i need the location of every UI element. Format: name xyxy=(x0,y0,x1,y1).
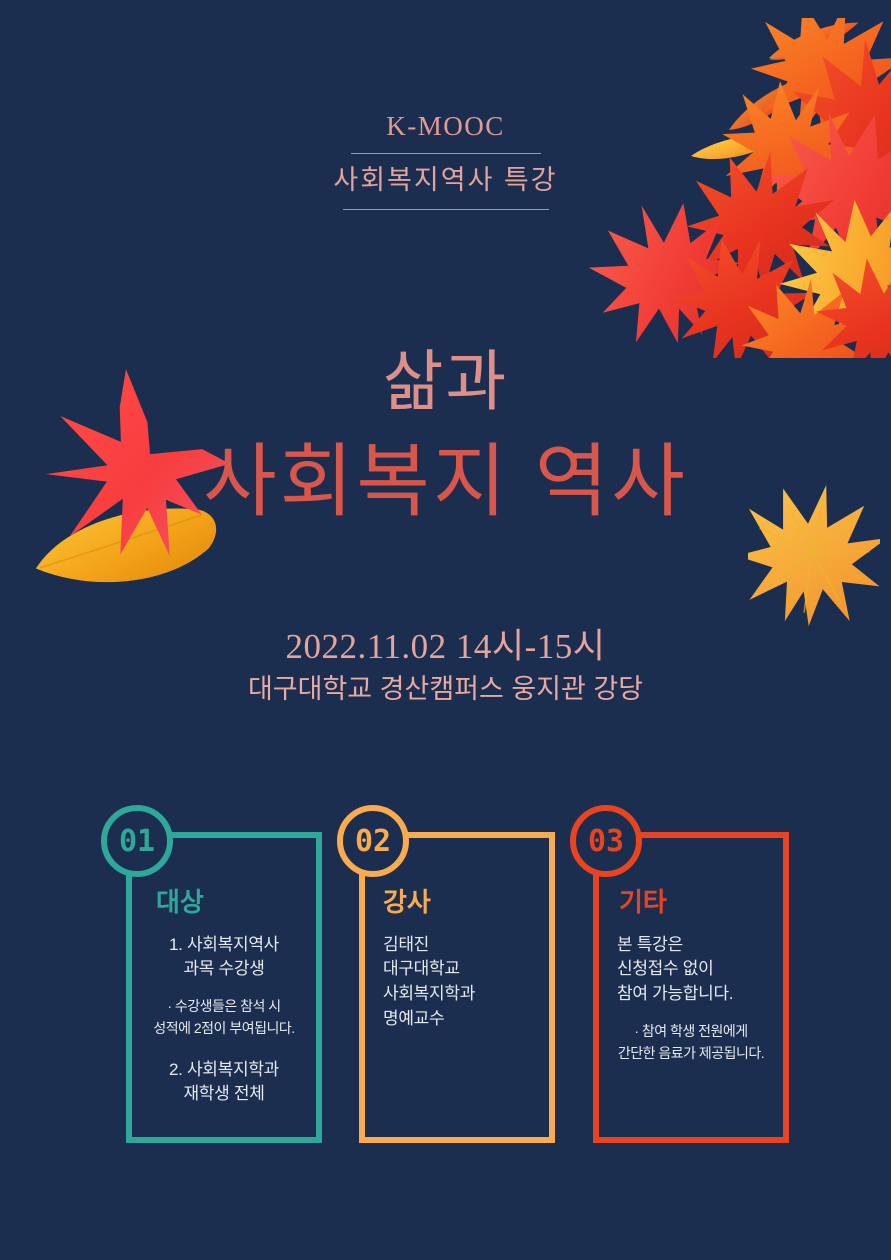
header-rule-top xyxy=(351,153,541,154)
info-box-03-heading: 기타 xyxy=(603,888,779,917)
info-line: 사회복지학과 xyxy=(369,982,545,1007)
info-line: 참여 가능합니다. xyxy=(603,982,779,1007)
info-line: 성적에 2점이 부여됩니다. xyxy=(136,1017,312,1039)
header-rule-bottom xyxy=(343,209,549,210)
info-box-01-body: 대상 1. 사회복지역사과목 수강생· 수강생들은 참석 시성적에 2점이 부여… xyxy=(126,832,322,1143)
info-line: 명예교수 xyxy=(369,1007,545,1032)
info-box-02-body: 강사 김태진대구대학교사회복지학과명예교수 xyxy=(359,832,555,1143)
brand-title: K-MOOC xyxy=(0,112,891,142)
header-subtitle: 사회복지역사 특강 xyxy=(0,164,891,196)
info-box-03-body: 기타 본 특강은신청접수 없이참여 가능합니다.· 참여 학생 전원에게간단한 … xyxy=(593,832,789,1143)
event-location: 대구대학교 경산캠퍼스 웅지관 강당 xyxy=(0,673,891,705)
info-box-01-heading: 대상 xyxy=(136,888,312,917)
title-line-2: 사회복지 역사 xyxy=(0,434,891,530)
info-box-01-lines: 1. 사회복지역사과목 수강생· 수강생들은 참석 시성적에 2점이 부여됩니다… xyxy=(136,933,312,1107)
info-line: 대구대학교 xyxy=(369,957,545,982)
info-line: 재학생 전체 xyxy=(136,1082,312,1107)
info-line: 간단한 음료가 제공됩니다. xyxy=(603,1042,779,1064)
info-line: 1. 사회복지역사 xyxy=(136,933,312,958)
info-line: 2. 사회복지학과 xyxy=(136,1058,312,1083)
info-box-03-lines: 본 특강은신청접수 없이참여 가능합니다.· 참여 학생 전원에게간단한 음료가… xyxy=(603,933,779,1065)
info-line: 본 특강은 xyxy=(603,933,779,958)
info-line: 신청접수 없이 xyxy=(603,957,779,982)
info-line: 과목 수강생 xyxy=(136,957,312,982)
poster-header: K-MOOC 사회복지역사 특강 xyxy=(0,112,891,210)
info-line: 김태진 xyxy=(369,933,545,958)
main-title: 삶과 사회복지 역사 xyxy=(0,344,891,530)
info-boxes: 대상 1. 사회복지역사과목 수강생· 수강생들은 참석 시성적에 2점이 부여… xyxy=(0,805,891,1165)
event-datetime-location: 2022.11.02 14시-15시 대구대학교 경산캠퍼스 웅지관 강당 xyxy=(0,627,891,706)
info-line: · 참여 학생 전원에게 xyxy=(603,1020,779,1042)
info-box-02-heading: 강사 xyxy=(369,888,545,917)
title-line-1: 삶과 xyxy=(0,344,891,420)
poster-canvas: K-MOOC 사회복지역사 특강 삶과 사회복지 역사 2022.11.02 1… xyxy=(0,0,891,1260)
info-line: · 수강생들은 참석 시 xyxy=(136,995,312,1017)
event-date: 2022.11.02 14시-15시 xyxy=(0,627,891,667)
info-box-02-lines: 김태진대구대학교사회복지학과명예교수 xyxy=(369,933,545,1032)
